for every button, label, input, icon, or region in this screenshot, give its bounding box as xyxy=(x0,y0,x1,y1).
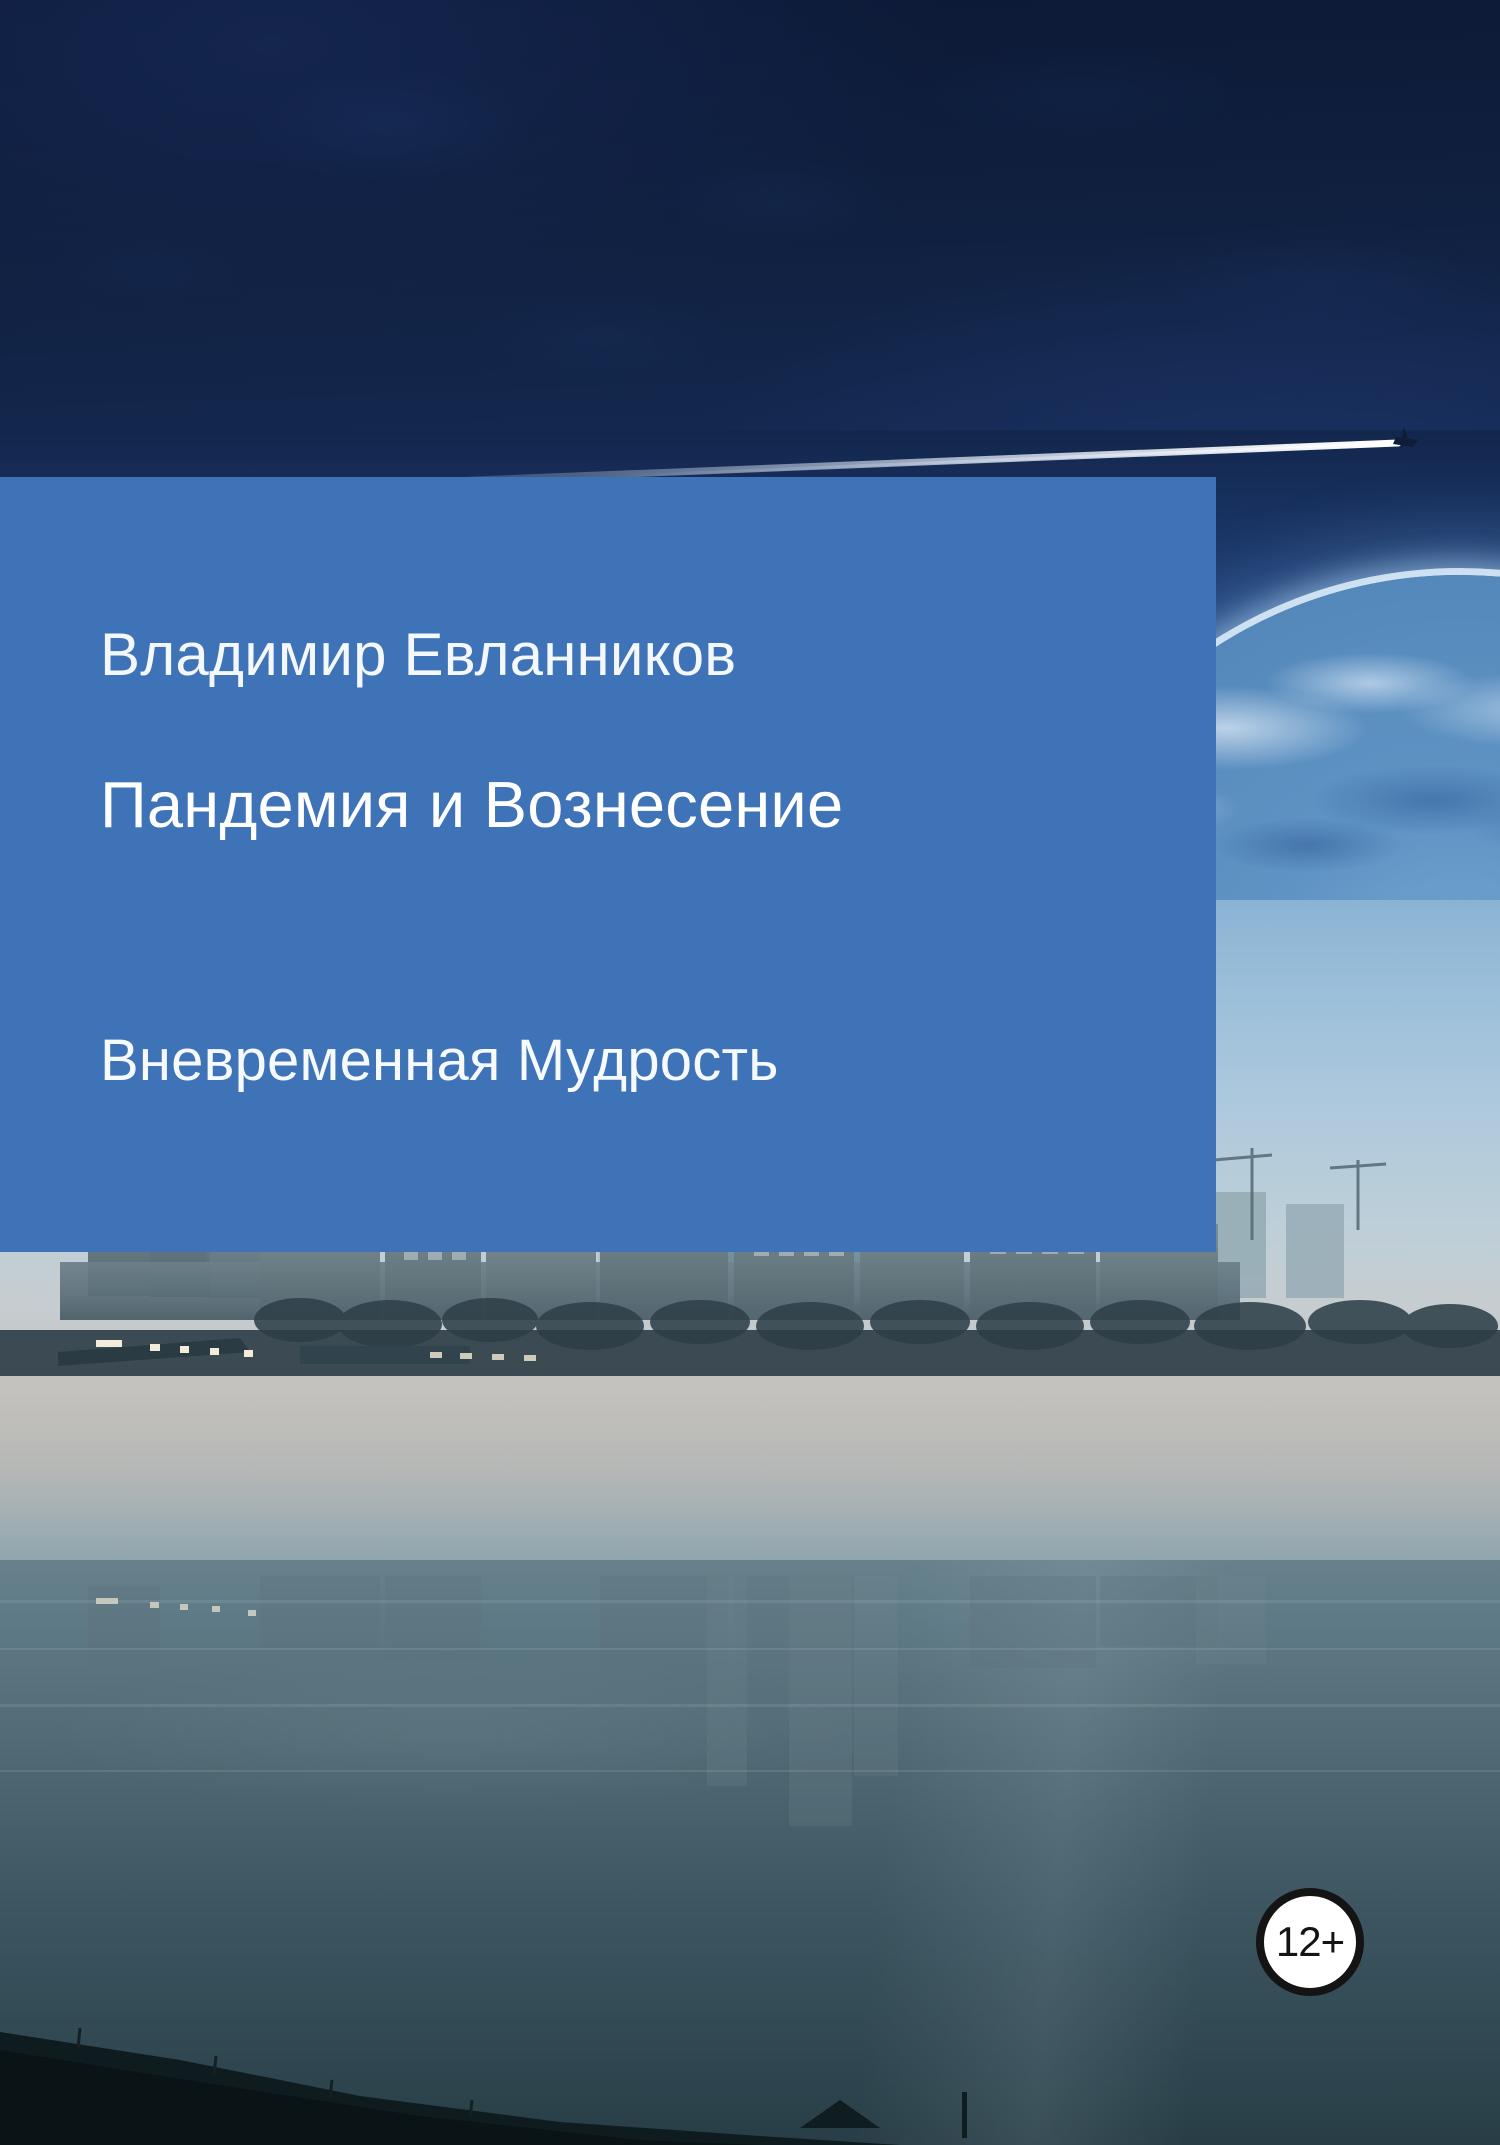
title-panel xyxy=(0,477,1216,1252)
age-rating-badge: 12+ xyxy=(1256,1888,1364,1996)
author-name: Владимир Евланников xyxy=(100,622,736,688)
book-subtitle: Вневременная Мудрость xyxy=(100,1028,779,1095)
book-title: Пандемия и Вознесение xyxy=(100,768,843,843)
age-rating-label: 12+ xyxy=(1276,1921,1344,1963)
book-cover: Владимир Евланников Пандемия и Вознесени… xyxy=(0,0,1500,2145)
